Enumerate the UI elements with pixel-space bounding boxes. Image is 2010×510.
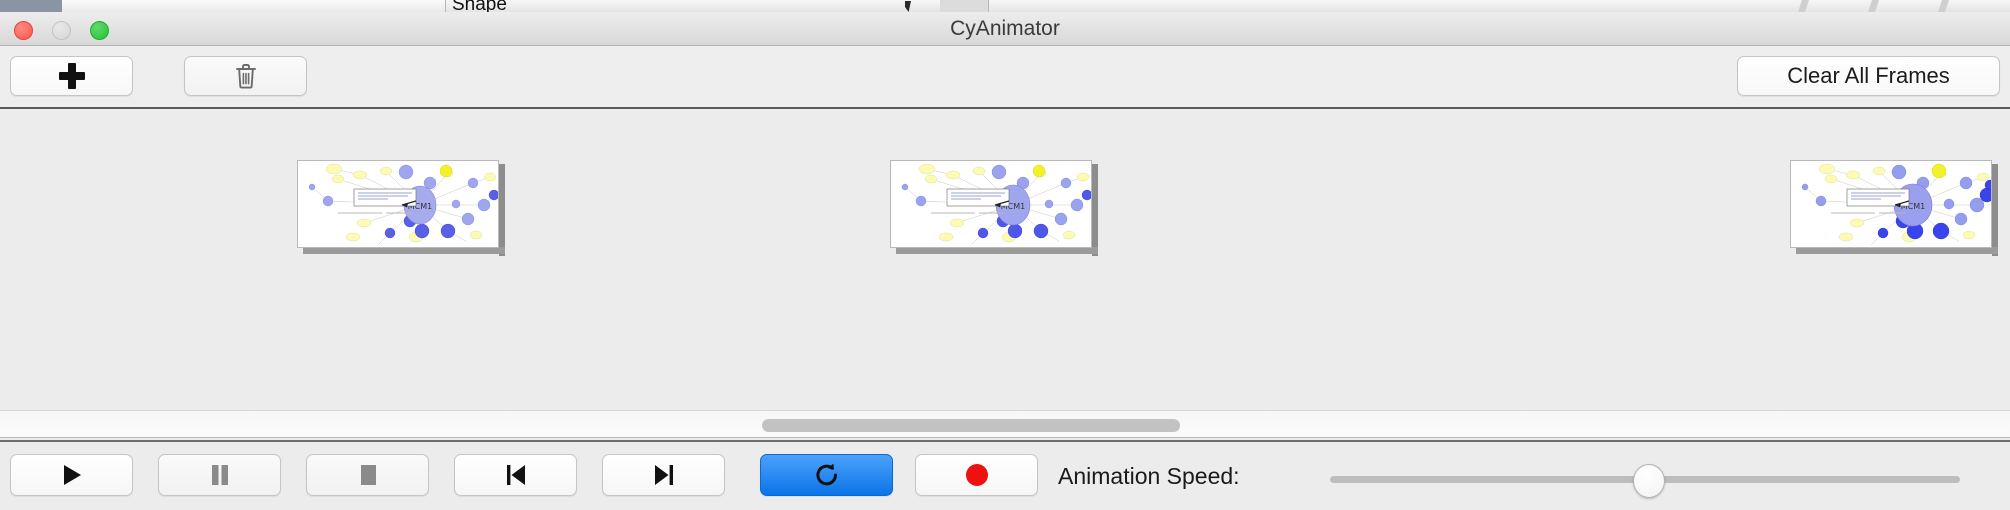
- skip-forward-icon: [652, 463, 676, 487]
- frame-shadow: [499, 164, 505, 256]
- background-tab: [247, 0, 311, 12]
- frame-shadow: [1092, 164, 1098, 256]
- plus-icon: [59, 63, 85, 89]
- play-icon: [61, 463, 83, 487]
- window-title: CyAnimator: [0, 12, 2010, 45]
- frame-shadow: [1992, 164, 1998, 256]
- pause-icon: [209, 463, 231, 487]
- background-tab: [195, 0, 248, 12]
- stop-icon: [357, 463, 379, 487]
- delete-frame-button[interactable]: [184, 56, 307, 96]
- loop-icon: [814, 462, 840, 488]
- toolbar-divider: [0, 107, 2010, 109]
- frame-network-preview: MCM1: [890, 160, 1092, 248]
- record-button[interactable]: [915, 454, 1038, 496]
- frame-thumbnail[interactable]: MCM1: [1790, 160, 1998, 254]
- frame-thumbnail[interactable]: MCM1: [890, 160, 1098, 254]
- animation-speed-slider-thumb[interactable]: [1633, 464, 1665, 498]
- timeline-panel[interactable]: MCM1: [0, 110, 2010, 410]
- record-icon: [964, 462, 990, 488]
- frame-shadow: [1796, 247, 1998, 254]
- transport-bar: Animation Speed:: [0, 440, 2010, 510]
- trash-icon: [235, 63, 257, 89]
- cyanimator-window: Shape CyAnimator Clear All Frames: [0, 0, 2010, 510]
- frame-shadow: [896, 247, 1098, 254]
- background-cursor-icon: [905, 1, 911, 12]
- frame-network-preview: MCM1: [1790, 160, 1992, 248]
- add-frame-button[interactable]: [10, 56, 133, 96]
- background-divider: [1798, 0, 1809, 12]
- background-tab: [62, 0, 158, 12]
- loop-button[interactable]: [760, 454, 893, 496]
- timeline-scrollbar[interactable]: [0, 410, 2010, 438]
- clear-all-frames-button[interactable]: Clear All Frames: [1737, 56, 2000, 96]
- background-selected-tab: [0, 0, 62, 12]
- background-divider: [1868, 0, 1879, 12]
- frame-shadow: [303, 247, 505, 254]
- background-tab: [157, 0, 196, 12]
- timeline-scrollbar-thumb[interactable]: [762, 419, 1180, 432]
- title-bar: CyAnimator: [0, 12, 2010, 46]
- stop-button[interactable]: [306, 454, 429, 496]
- animation-speed-label: Animation Speed:: [1058, 463, 1240, 490]
- background-tab: [940, 0, 989, 12]
- background-tab: [310, 0, 446, 12]
- pause-button[interactable]: [158, 454, 281, 496]
- skip-to-start-button[interactable]: [454, 454, 577, 496]
- top-toolbar: Clear All Frames: [0, 46, 2010, 107]
- play-button[interactable]: [10, 454, 133, 496]
- skip-back-icon: [504, 463, 528, 487]
- frame-thumbnail[interactable]: MCM1: [297, 160, 505, 254]
- skip-to-end-button[interactable]: [602, 454, 725, 496]
- frame-network-preview: MCM1: [297, 160, 499, 248]
- clear-all-frames-label: Clear All Frames: [1787, 63, 1950, 89]
- background-divider: [1938, 0, 1949, 12]
